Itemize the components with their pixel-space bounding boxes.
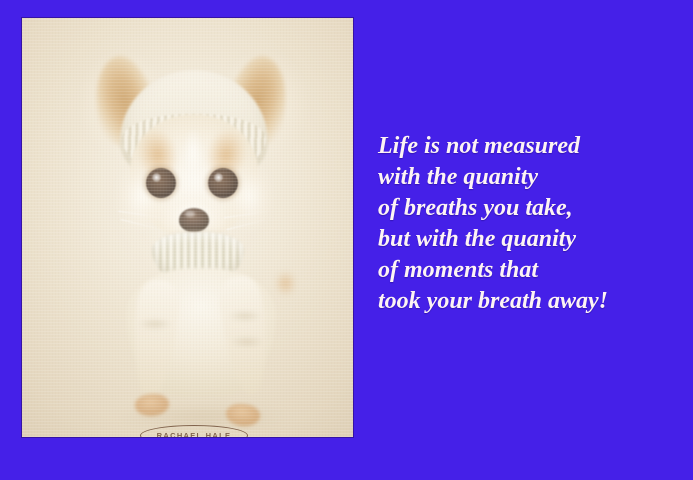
dog-photo: RACHAEL HALE bbox=[22, 18, 353, 437]
tail-tuft bbox=[272, 268, 302, 302]
sleeve-fold bbox=[230, 336, 264, 348]
sleeve-fold bbox=[228, 310, 262, 322]
left-eye bbox=[146, 168, 176, 198]
right-eye bbox=[208, 168, 238, 198]
quote-line-6: took your breath away! bbox=[378, 286, 678, 317]
quote-block: Life is not measured with the quanity of… bbox=[378, 131, 678, 317]
quote-line-1: Life is not measured bbox=[378, 131, 678, 162]
quote-line-3: of breaths you take, bbox=[378, 193, 678, 224]
quote-line-2: with the quanity bbox=[378, 162, 678, 193]
left-eye-highlight bbox=[152, 173, 161, 182]
chihuahua-illustration bbox=[22, 18, 353, 437]
quote-line-4: but with the quanity bbox=[378, 224, 678, 255]
forehead-blaze bbox=[180, 130, 206, 184]
poster-canvas: RACHAEL HALE Life is not measured with t… bbox=[0, 0, 693, 480]
sleeve-fold bbox=[138, 318, 172, 330]
nose-highlight bbox=[185, 211, 195, 217]
watermark-text: RACHAEL HALE bbox=[157, 431, 232, 437]
right-eye-highlight bbox=[214, 173, 223, 182]
quote-line-5: of moments that bbox=[378, 255, 678, 286]
